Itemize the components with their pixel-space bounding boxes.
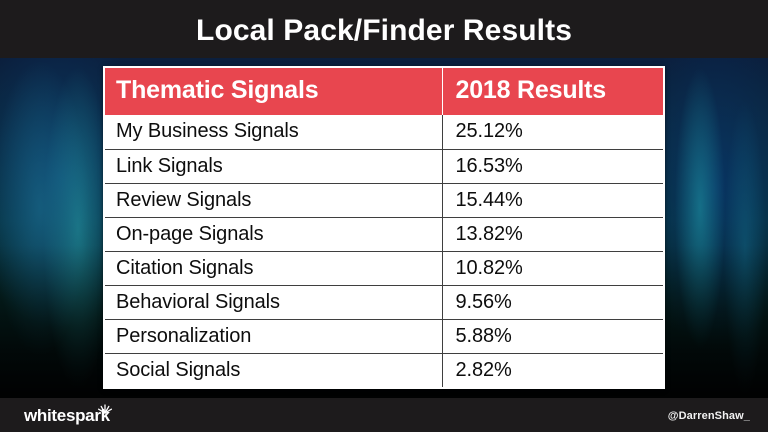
table-header-row: Thematic Signals 2018 Results — [105, 68, 663, 115]
author-handle: @DarrenShaw_ — [668, 409, 750, 423]
cell-result: 10.82% — [442, 251, 663, 285]
cell-signal: On-page Signals — [105, 217, 442, 251]
slide-root: Local Pack/Finder Results Thematic Signa… — [0, 0, 768, 432]
page-title: Local Pack/Finder Results — [0, 14, 768, 48]
table-body: My Business Signals 25.12% Link Signals … — [105, 115, 663, 387]
cell-signal: Link Signals — [105, 149, 442, 183]
results-table: Thematic Signals 2018 Results My Busines… — [105, 68, 663, 387]
table-row: Personalization 5.88% — [105, 319, 663, 353]
table-row: My Business Signals 25.12% — [105, 115, 663, 149]
cell-result: 13.82% — [442, 217, 663, 251]
results-table-container: Thematic Signals 2018 Results My Busines… — [103, 66, 665, 389]
spark-icon — [97, 399, 113, 411]
cell-result: 16.53% — [442, 149, 663, 183]
column-header-thematic-signals: Thematic Signals — [105, 68, 442, 115]
cell-signal: Personalization — [105, 319, 442, 353]
cell-result: 9.56% — [442, 285, 663, 319]
cell-result: 2.82% — [442, 353, 663, 387]
cell-signal: Social Signals — [105, 353, 442, 387]
cell-signal: Behavioral Signals — [105, 285, 442, 319]
cell-signal: My Business Signals — [105, 115, 442, 149]
cell-result: 25.12% — [442, 115, 663, 149]
table-row: On-page Signals 13.82% — [105, 217, 663, 251]
table-row: Social Signals 2.82% — [105, 353, 663, 387]
table-row: Citation Signals 10.82% — [105, 251, 663, 285]
cell-result: 5.88% — [442, 319, 663, 353]
table-row: Behavioral Signals 9.56% — [105, 285, 663, 319]
table-row: Review Signals 15.44% — [105, 183, 663, 217]
whitespark-logo: whitespark — [24, 406, 110, 426]
table-row: Link Signals 16.53% — [105, 149, 663, 183]
cell-signal: Citation Signals — [105, 251, 442, 285]
cell-signal: Review Signals — [105, 183, 442, 217]
bottom-letterbox-bar — [0, 398, 768, 432]
column-header-2018-results: 2018 Results — [442, 68, 663, 115]
cell-result: 15.44% — [442, 183, 663, 217]
